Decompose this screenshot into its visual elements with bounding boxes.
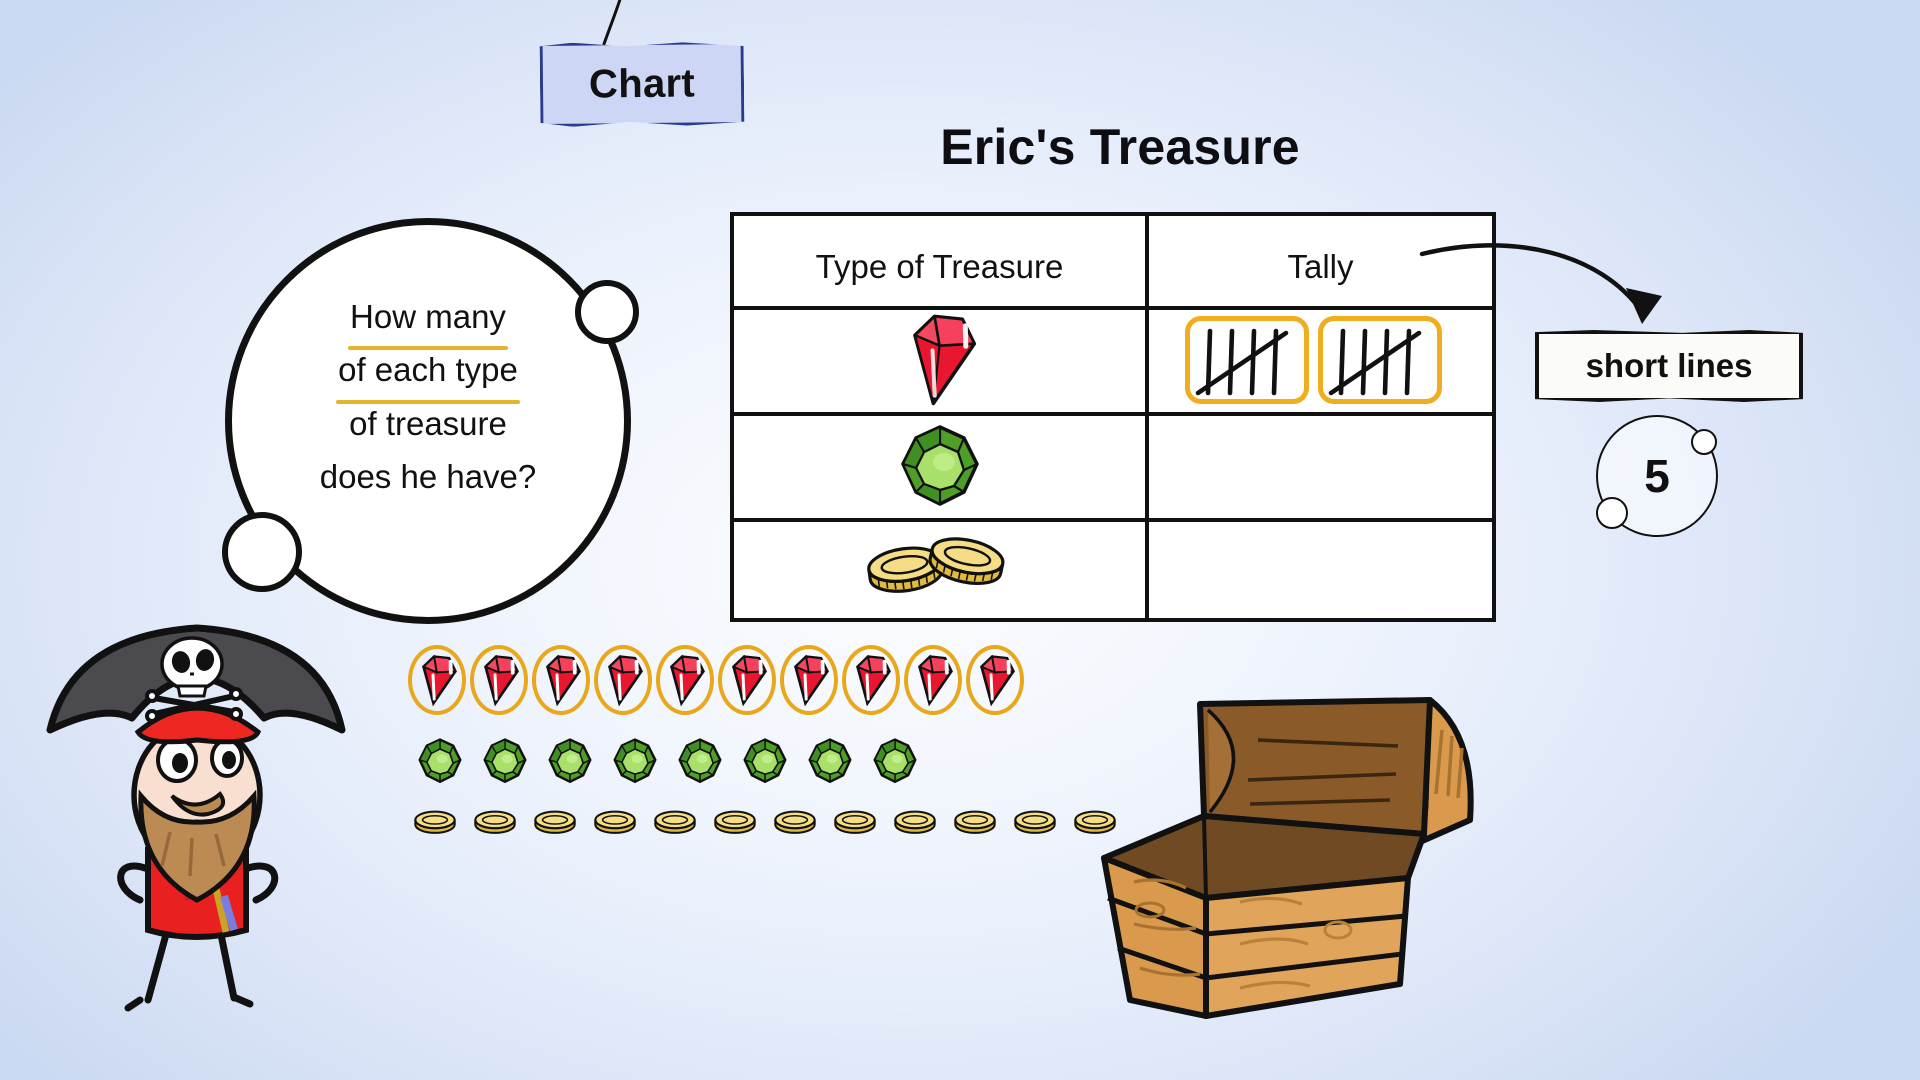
question-line-2: of each type — [338, 343, 518, 396]
gold-coin-icon — [713, 808, 757, 838]
emerald-object — [674, 735, 726, 787]
emerald-gem-icon — [612, 738, 658, 784]
gold-coin-icon — [593, 808, 637, 838]
emerald-gem-icon — [742, 738, 788, 784]
highlight-ring — [904, 645, 962, 715]
gold-coins-icon — [865, 530, 1015, 614]
gold-coin-icon — [533, 808, 577, 838]
emerald-object — [739, 735, 791, 787]
whiteboard-canvas: Chart Eric's Treasure Type of Treasure T… — [0, 0, 1920, 1080]
highlight-ring — [780, 645, 838, 715]
gold-coin-icon — [413, 808, 457, 838]
highlight-ring — [718, 645, 776, 715]
badge-bump — [1691, 429, 1717, 455]
ruby-object — [594, 645, 652, 715]
ruby-object — [656, 645, 714, 715]
gold-coin-icon — [473, 808, 517, 838]
gold-coin-object-row — [412, 805, 1118, 841]
gold-coin-object — [472, 805, 518, 841]
highlight-ring — [656, 645, 714, 715]
ruby-object — [718, 645, 776, 715]
ruby-gem-icon — [724, 649, 770, 711]
emerald-gem-icon — [677, 738, 723, 784]
gold-coin-object — [712, 805, 758, 841]
pirate-eric-character — [20, 600, 350, 1020]
tally-five-marks — [1190, 321, 1306, 401]
gold-coin-object — [592, 805, 638, 841]
ruby-gem-icon — [972, 649, 1018, 711]
question-line-4: does he have? — [320, 458, 537, 495]
page-title: Eric's Treasure — [900, 118, 1340, 176]
table-cell-ruby — [734, 310, 1145, 410]
emerald-object — [869, 735, 921, 787]
highlight-ring — [532, 645, 590, 715]
ruby-gem-icon — [538, 649, 584, 711]
question-text: How many of each type of treasure does h… — [225, 290, 631, 504]
highlight-ring — [594, 645, 652, 715]
short-lines-text: short lines — [1586, 347, 1753, 385]
emerald-gem-icon — [898, 424, 982, 508]
highlight-ring — [842, 645, 900, 715]
count-badge-value: 5 — [1644, 449, 1670, 503]
ruby-gem-icon — [414, 649, 460, 711]
gold-coin-icon — [653, 808, 697, 838]
gold-coin-icon — [953, 808, 997, 838]
banner-thread-line — [590, 0, 650, 48]
highlight-ring — [408, 645, 466, 715]
ruby-object — [532, 645, 590, 715]
ruby-object — [470, 645, 528, 715]
ruby-gem-icon — [897, 312, 983, 408]
gold-coin-icon — [773, 808, 817, 838]
badge-bump — [1596, 497, 1628, 529]
question-line-3: of treasure — [349, 405, 507, 442]
table-cell-emerald — [734, 416, 1145, 516]
question-line-1: How many — [350, 290, 506, 343]
ruby-object-row — [408, 645, 1024, 715]
highlight-ring — [966, 645, 1024, 715]
gold-coin-object — [1012, 805, 1058, 841]
gold-coin-object — [952, 805, 998, 841]
column-header-type-of-treasure: Type of Treasure — [734, 228, 1145, 306]
ruby-gem-icon — [476, 649, 522, 711]
gold-coin-object — [532, 805, 578, 841]
ruby-gem-icon — [600, 649, 646, 711]
chart-label-banner: Chart — [540, 41, 745, 127]
emerald-gem-icon — [872, 738, 918, 784]
open-treasure-chest — [1090, 670, 1490, 1030]
gold-coin-object — [772, 805, 818, 841]
ruby-gem-icon — [662, 649, 708, 711]
emerald-gem-icon — [482, 738, 528, 784]
emerald-object — [609, 735, 661, 787]
ruby-object — [966, 645, 1024, 715]
gold-coin-icon — [1013, 808, 1057, 838]
gold-coin-object — [892, 805, 938, 841]
gold-coin-icon — [893, 808, 937, 838]
ruby-object — [780, 645, 838, 715]
chart-label-text: Chart — [589, 61, 695, 107]
gold-coin-object — [652, 805, 698, 841]
emerald-object — [479, 735, 531, 787]
short-lines-label: short lines — [1535, 330, 1803, 402]
table-cell-gold-coins — [734, 522, 1145, 622]
gold-coin-icon — [833, 808, 877, 838]
emerald-object — [414, 735, 466, 787]
ruby-object — [842, 645, 900, 715]
bubble-tail-bump — [222, 512, 302, 592]
ruby-gem-icon — [786, 649, 832, 711]
ruby-gem-icon — [848, 649, 894, 711]
emerald-gem-icon — [417, 738, 463, 784]
gold-coin-object — [412, 805, 458, 841]
emerald-object — [544, 735, 596, 787]
ruby-object — [408, 645, 466, 715]
gold-coin-object — [832, 805, 878, 841]
tally-group — [1185, 316, 1309, 404]
ruby-object — [904, 645, 962, 715]
ruby-gem-icon — [910, 649, 956, 711]
highlight-ring — [470, 645, 528, 715]
emerald-object-row — [414, 735, 921, 787]
emerald-gem-icon — [547, 738, 593, 784]
emerald-object — [804, 735, 856, 787]
emerald-gem-icon — [807, 738, 853, 784]
